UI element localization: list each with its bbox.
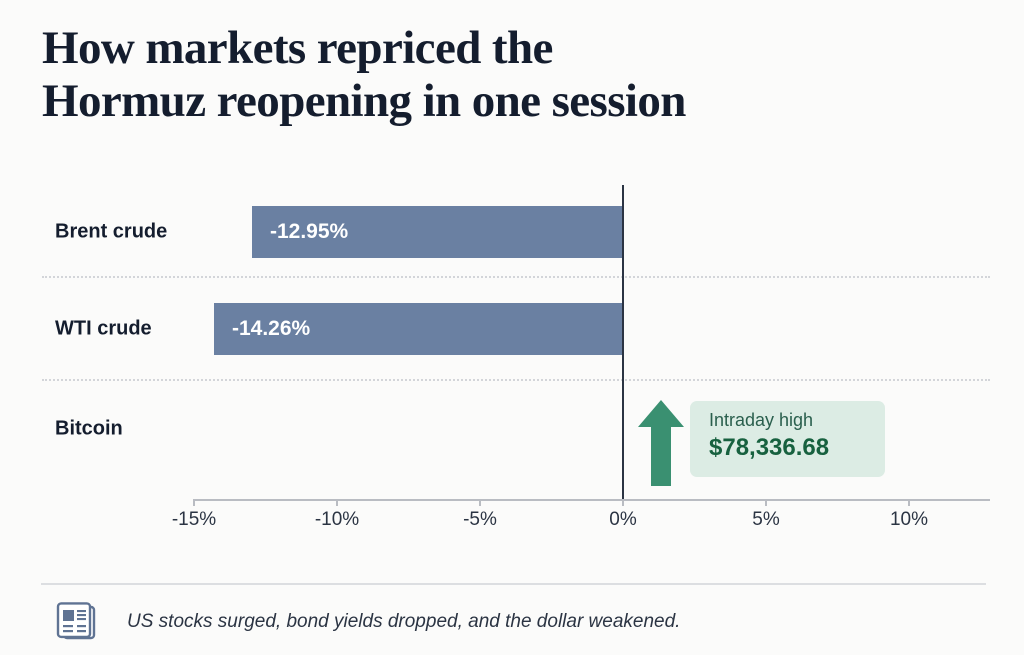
x-axis-label-2: -5%: [463, 509, 497, 531]
x-axis-tick-0: [193, 499, 195, 506]
x-axis-label-5: 10%: [890, 509, 928, 531]
x-axis-line: [193, 499, 990, 501]
bar-chart: Brent crude WTI crude Bitcoin -12.95% -1…: [0, 0, 1024, 560]
newspaper-icon: [55, 602, 101, 642]
row-label-brent-crude: Brent crude: [55, 221, 167, 244]
x-axis-label-3: 0%: [609, 509, 636, 531]
bar-brent-crude[interactable]: -12.95%: [252, 206, 622, 258]
x-axis-label-1: -10%: [315, 509, 359, 531]
footer-divider: [41, 583, 986, 585]
row-divider-1: [42, 276, 990, 278]
row-divider-2: [42, 379, 990, 381]
footer-note: US stocks surged, bond yields dropped, a…: [55, 602, 680, 642]
up-arrow-icon: [638, 400, 684, 486]
bar-value-brent-crude: -12.95%: [270, 220, 348, 244]
row-label-bitcoin: Bitcoin: [55, 418, 123, 441]
callout-value: $78,336.68: [709, 433, 885, 463]
x-axis-tick-4: [765, 499, 767, 506]
x-axis-tick-3: [622, 499, 624, 506]
x-axis-tick-5: [908, 499, 910, 506]
callout-label: Intraday high: [709, 410, 885, 432]
bar-value-wti-crude: -14.26%: [232, 317, 310, 341]
row-label-wti-crude: WTI crude: [55, 318, 152, 341]
x-axis-label-0: -15%: [172, 509, 216, 531]
x-axis-tick-1: [336, 499, 338, 506]
bar-wti-crude[interactable]: -14.26%: [214, 303, 622, 355]
zero-baseline: [622, 185, 624, 500]
x-axis-label-4: 5%: [752, 509, 779, 531]
footer-note-text: US stocks surged, bond yields dropped, a…: [127, 611, 680, 633]
intraday-high-callout: Intraday high $78,336.68: [690, 401, 885, 477]
x-axis-tick-2: [479, 499, 481, 506]
